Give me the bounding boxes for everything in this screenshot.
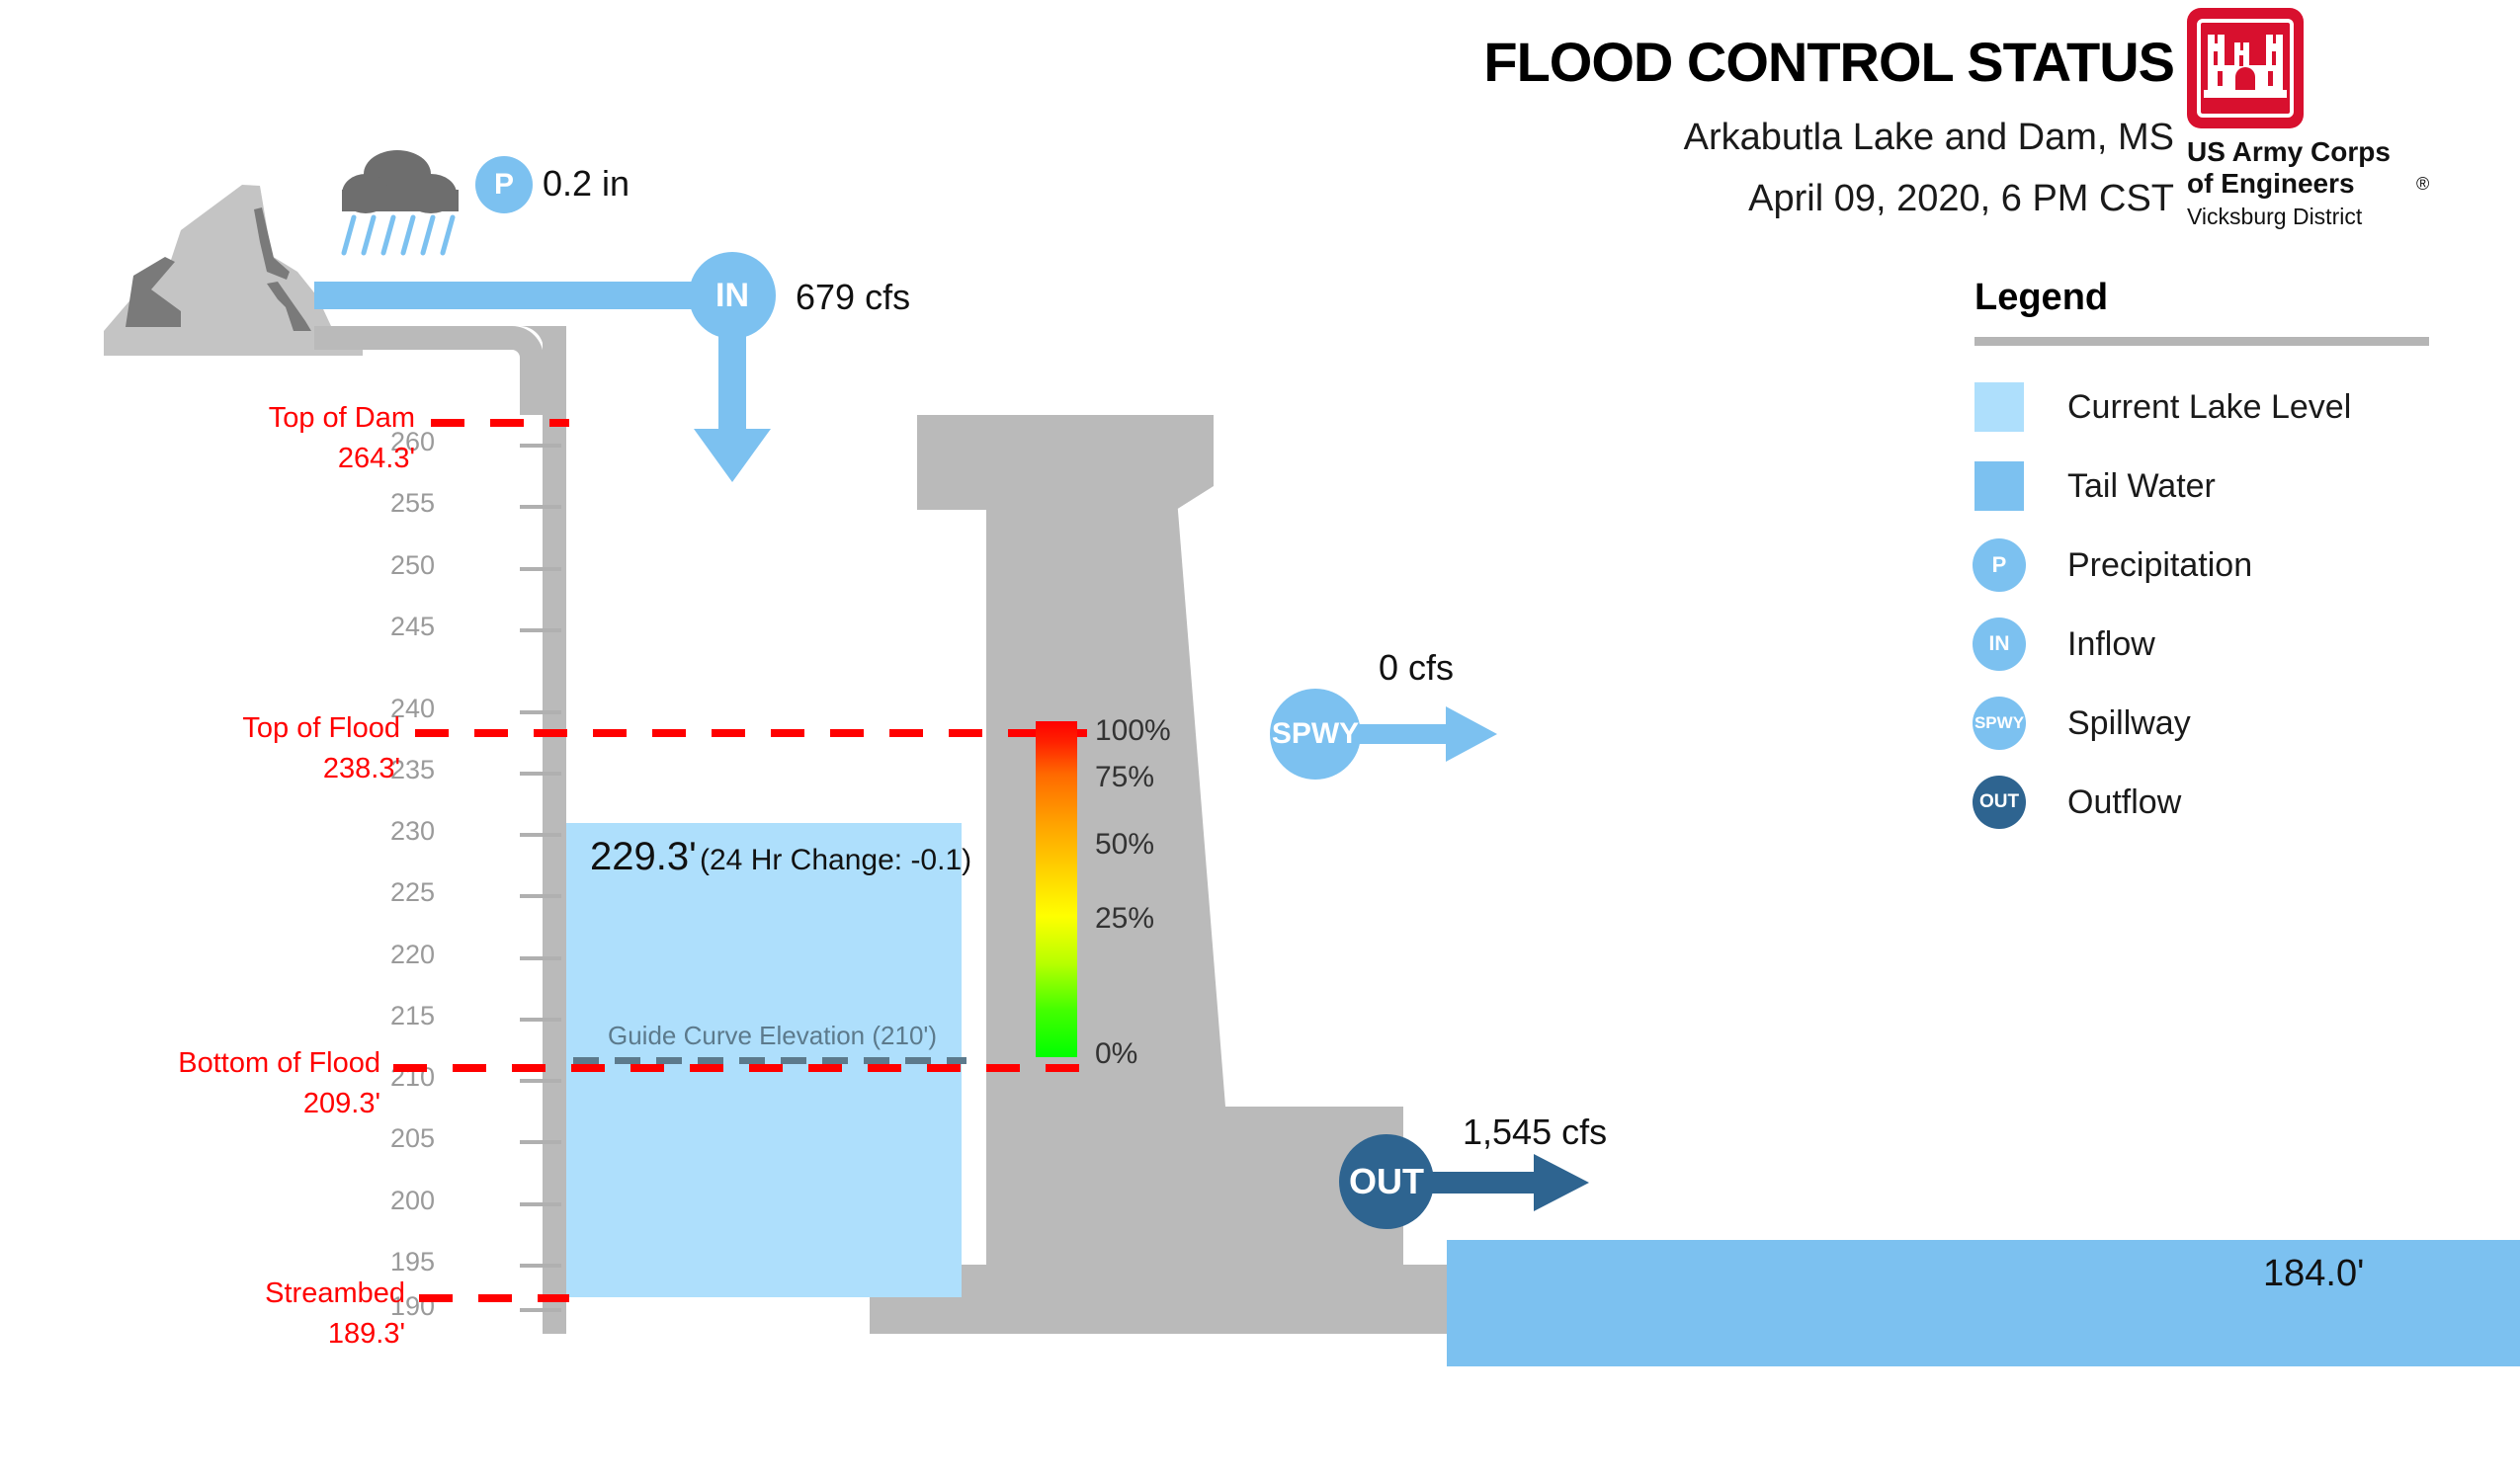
marker-label-streambed: Streambed <box>148 1277 405 1310</box>
marker-line-top-of-dam <box>431 419 569 427</box>
outflow-arrow-icon <box>1413 1154 1589 1211</box>
agency-name-line2: of Engineers <box>2187 168 2355 200</box>
spillway-value: 0 cfs <box>1379 647 1454 689</box>
marker-value-streambed: 189.3' <box>148 1318 405 1351</box>
axis-tick-mark <box>520 1264 561 1268</box>
axis-tick-label: 215 <box>356 1001 435 1031</box>
legend-item-tail-water: Tail Water <box>1967 447 2480 526</box>
legend-item-inflow: IN Inflow <box>1967 605 2480 684</box>
lake-level-value: 229.3' <box>590 835 697 879</box>
marker-line-bottom-of-flood <box>393 1064 1087 1072</box>
legend-item-label: Precipitation <box>2067 546 2252 585</box>
axis-tick-mark <box>520 628 561 632</box>
axis-tick-label: 245 <box>356 612 435 642</box>
current-lake-level-swatch <box>1974 382 2024 432</box>
precipitation-icon: P <box>1973 538 2026 592</box>
axis-tick-mark <box>520 1140 561 1144</box>
inflow-arrow-icon <box>692 326 773 484</box>
guide-curve-line <box>573 1057 966 1064</box>
outflow-value: 1,545 cfs <box>1463 1111 1607 1153</box>
header-datetime: April 09, 2020, 6 PM CST <box>1413 178 2174 220</box>
axis-tick-label: 255 <box>356 488 435 519</box>
marker-line-streambed <box>419 1294 569 1302</box>
guide-curve-label: Guide Curve Elevation (210') <box>608 1021 937 1051</box>
legend-item-label: Tail Water <box>2067 467 2216 506</box>
marker-value-top-of-dam: 264.3' <box>158 443 415 475</box>
elevation-axis: 260 255 250 245 240 235 230 225 <box>435 0 563 1482</box>
spillway-icon: SPWY <box>1973 697 2026 750</box>
axis-tick-label: 225 <box>356 877 435 908</box>
legend-item-label: Spillway <box>2067 704 2191 743</box>
gauge-tick-75: 75% <box>1095 761 1154 794</box>
marker-value-top-of-flood: 238.3' <box>138 753 400 785</box>
legend-item-spillway: SPWY Spillway <box>1967 684 2480 763</box>
axis-tick-mark <box>520 833 561 837</box>
axis-tick-mark <box>520 1079 561 1083</box>
axis-tick-label: 205 <box>356 1123 435 1154</box>
castle-glyph <box>2187 8 2304 128</box>
tail-water-swatch <box>1974 461 2024 511</box>
marker-label-top-of-dam: Top of Dam <box>158 402 415 435</box>
header-location: Arkabutla Lake and Dam, MS <box>1413 117 2174 159</box>
agency-name-line1: US Army Corps <box>2187 136 2391 168</box>
legend: Legend Current Lake Level Tail Water P P… <box>1967 277 2480 842</box>
gauge-tick-0: 0% <box>1095 1037 1137 1071</box>
agency-district: Vicksburg District <box>2187 204 2362 230</box>
spillway-arrow-icon <box>1339 706 1497 762</box>
gauge-tick-100: 100% <box>1095 714 1171 748</box>
axis-tick-mark <box>520 894 561 898</box>
storage-gradient-bar <box>1036 721 1077 1057</box>
spillway-badge: SPWY <box>1270 689 1361 780</box>
axis-tick-mark <box>520 710 561 714</box>
legend-item-label: Inflow <box>2067 625 2155 664</box>
usace-logo: US Army Corps of Engineers ® Vicksburg D… <box>2187 8 2513 245</box>
axis-tick-mark <box>520 956 561 960</box>
outflow-icon: OUT <box>1973 776 2026 829</box>
flood-control-status-diagram: FLOOD CONTROL STATUS Arkabutla Lake and … <box>0 0 2520 1482</box>
axis-tick-mark <box>520 1018 561 1022</box>
legend-item-outflow: OUT Outflow <box>1967 763 2480 842</box>
marker-label-top-of-flood: Top of Flood <box>138 712 400 745</box>
axis-tick-mark <box>520 1308 561 1312</box>
marker-label-bottom-of-flood: Bottom of Flood <box>119 1047 380 1080</box>
gauge-tick-25: 25% <box>1095 902 1154 936</box>
axis-tick-mark <box>520 444 561 448</box>
axis-tick-label: 220 <box>356 940 435 970</box>
outflow-badge: OUT <box>1339 1134 1434 1229</box>
page-title: FLOOD CONTROL STATUS <box>1463 30 2174 94</box>
axis-tick-mark <box>520 1202 561 1206</box>
legend-item-label: Current Lake Level <box>2067 388 2351 427</box>
axis-tick-label: 230 <box>356 816 435 847</box>
marker-value-bottom-of-flood: 209.3' <box>119 1088 380 1120</box>
axis-tick-mark <box>520 772 561 776</box>
axis-tick-label: 250 <box>356 550 435 581</box>
marker-line-top-of-flood <box>415 729 1087 737</box>
legend-item-current-lake-level: Current Lake Level <box>1967 368 2480 447</box>
inflow-icon: IN <box>1973 617 2026 671</box>
castle-icon <box>2187 8 2304 128</box>
lake-24hr-change: (24 Hr Change: -0.1) <box>700 844 971 877</box>
gauge-tick-50: 50% <box>1095 828 1154 862</box>
legend-divider <box>1974 337 2429 346</box>
inflow-value: 679 cfs <box>796 277 910 318</box>
axis-tick-label: 195 <box>356 1247 435 1277</box>
legend-title: Legend <box>1974 277 2480 319</box>
tail-water-level-value: 184.0' <box>2263 1253 2364 1295</box>
legend-item-label: Outflow <box>2067 783 2181 822</box>
axis-tick-label: 200 <box>356 1186 435 1216</box>
axis-tick-mark <box>520 505 561 509</box>
axis-tick-mark <box>520 567 561 571</box>
registered-mark: ® <box>2416 174 2429 195</box>
legend-item-precipitation: P Precipitation <box>1967 526 2480 605</box>
